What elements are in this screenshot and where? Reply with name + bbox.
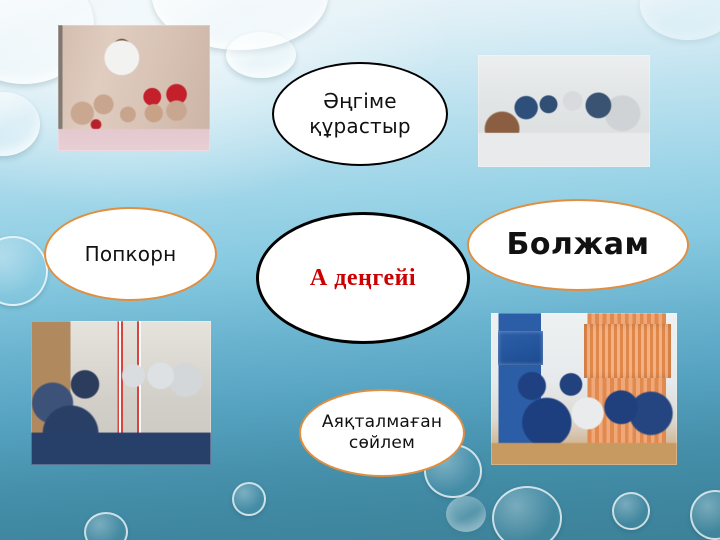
photo-frame bbox=[491, 313, 677, 465]
node-unfinished-sentence-label: Аяқталмаған сөйлем bbox=[322, 412, 442, 455]
node-unfinished-label-line1: Аяқталмаған bbox=[322, 412, 442, 433]
photo-frame bbox=[478, 55, 650, 167]
bubble-ring-icon bbox=[84, 512, 128, 540]
node-story[interactable]: Әңгіме құрастыр bbox=[272, 62, 448, 166]
bubble-ring-icon bbox=[232, 482, 266, 516]
bubble-ring-icon bbox=[0, 236, 48, 306]
photo-pupils-working-at-desks bbox=[478, 55, 650, 167]
node-popcorn-label-line1: Попкорн bbox=[85, 242, 177, 267]
center-node-label: А деңгейі bbox=[310, 263, 416, 293]
node-story-label: Әңгіме құрастыр bbox=[309, 89, 411, 139]
node-unfinished-sentence[interactable]: Аяқталмаған сөйлем bbox=[299, 389, 465, 477]
photo-frame bbox=[31, 321, 211, 465]
node-popcorn[interactable]: Попкорн bbox=[44, 207, 217, 301]
node-guess[interactable]: Болжам bbox=[467, 199, 689, 291]
node-story-label-line1: Әңгіме bbox=[309, 89, 411, 114]
bubble-ring-icon bbox=[690, 490, 720, 540]
bubble-ring-icon bbox=[612, 492, 650, 530]
photo-frame bbox=[58, 25, 210, 151]
bubble-icon bbox=[640, 0, 720, 40]
bubble-icon bbox=[446, 496, 486, 532]
photo-classroom-blue-uniforms bbox=[491, 313, 677, 465]
node-guess-label-line1: Болжам bbox=[506, 226, 649, 264]
photo-pupils-popcorn-activity bbox=[31, 321, 211, 465]
bubble-icon bbox=[226, 32, 296, 78]
bubble-icon bbox=[0, 92, 40, 156]
node-popcorn-label: Попкорн bbox=[85, 242, 177, 267]
node-story-label-line2: құрастыр bbox=[309, 114, 411, 139]
presentation-slide: Әңгіме құрастыр Попкорн Болжам Аяқталмағ… bbox=[0, 0, 720, 540]
node-unfinished-label-line2: сөйлем bbox=[322, 433, 442, 454]
center-node-level-a[interactable]: А деңгейі bbox=[256, 212, 470, 344]
photo-classroom-teacher-with-pupils bbox=[58, 25, 210, 151]
bubble-ring-icon bbox=[492, 486, 562, 540]
node-guess-label: Болжам bbox=[506, 226, 649, 264]
